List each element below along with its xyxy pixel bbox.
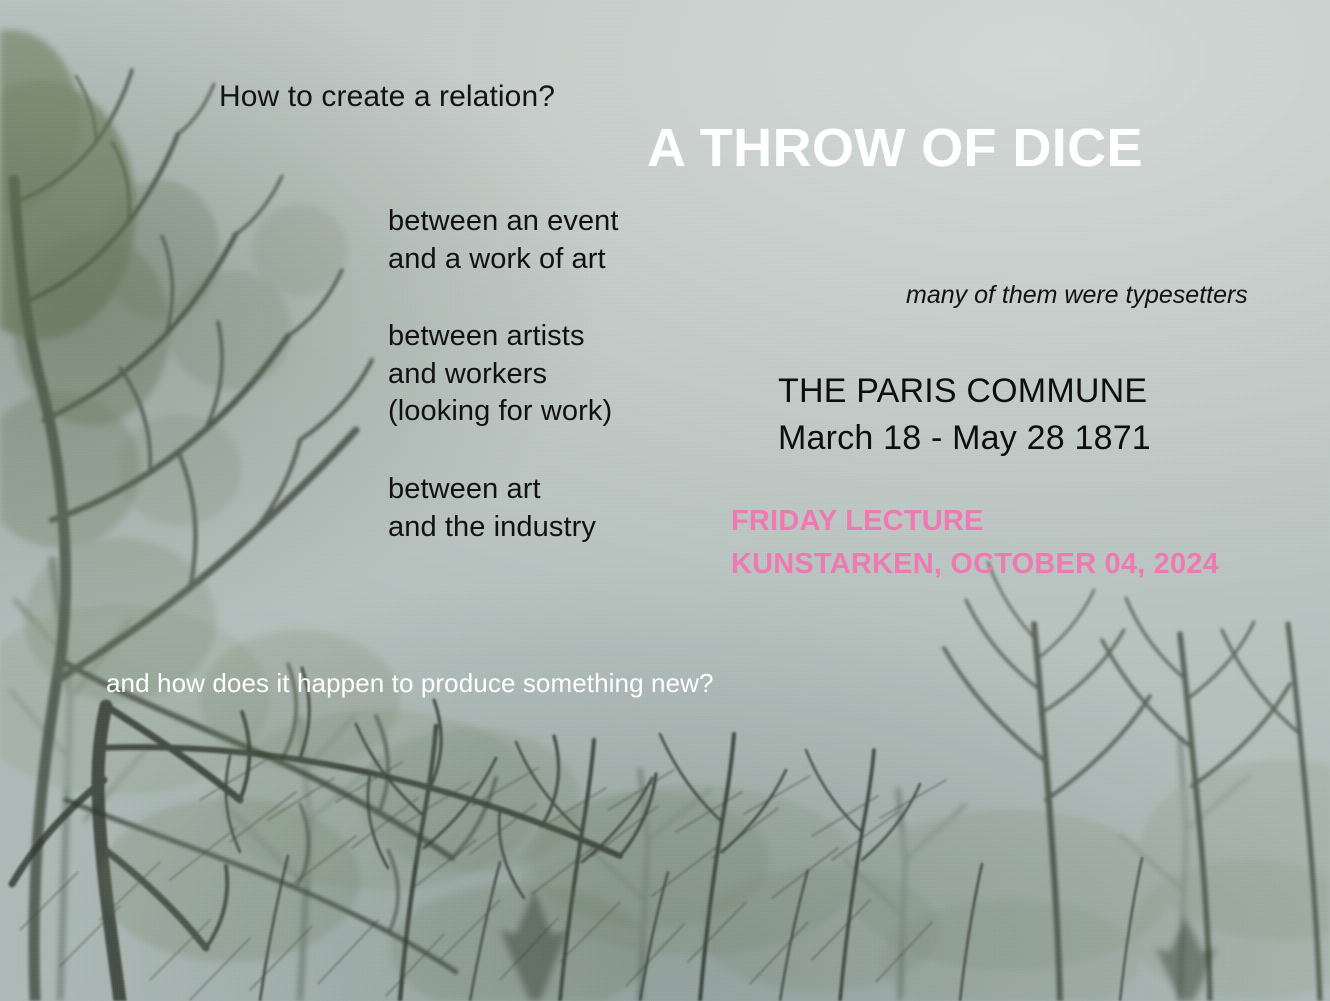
page-title: A THROW OF DICE	[647, 118, 1143, 180]
event-details: FRIDAY LECTURE KUNSTARKEN, OCTOBER 04, 2…	[731, 500, 1219, 586]
question-top: How to create a relation?	[219, 80, 555, 114]
text-overlay: How to create a relation? A THROW OF DIC…	[0, 0, 1330, 1001]
question-bottom: and how does it happen to produce someth…	[106, 669, 714, 699]
stanza-event-artwork: between an event and a work of art	[388, 203, 619, 278]
poster-slide: How to create a relation? A THROW OF DIC…	[0, 0, 1330, 1001]
paris-commune-dates: THE PARIS COMMUNE March 18 - May 28 1871	[778, 368, 1151, 462]
stanza-art-industry: between art and the industry	[388, 471, 596, 546]
typesetters-note: many of them were typesetters	[906, 281, 1248, 310]
stanza-artists-workers: between artists and workers (looking for…	[388, 318, 612, 431]
